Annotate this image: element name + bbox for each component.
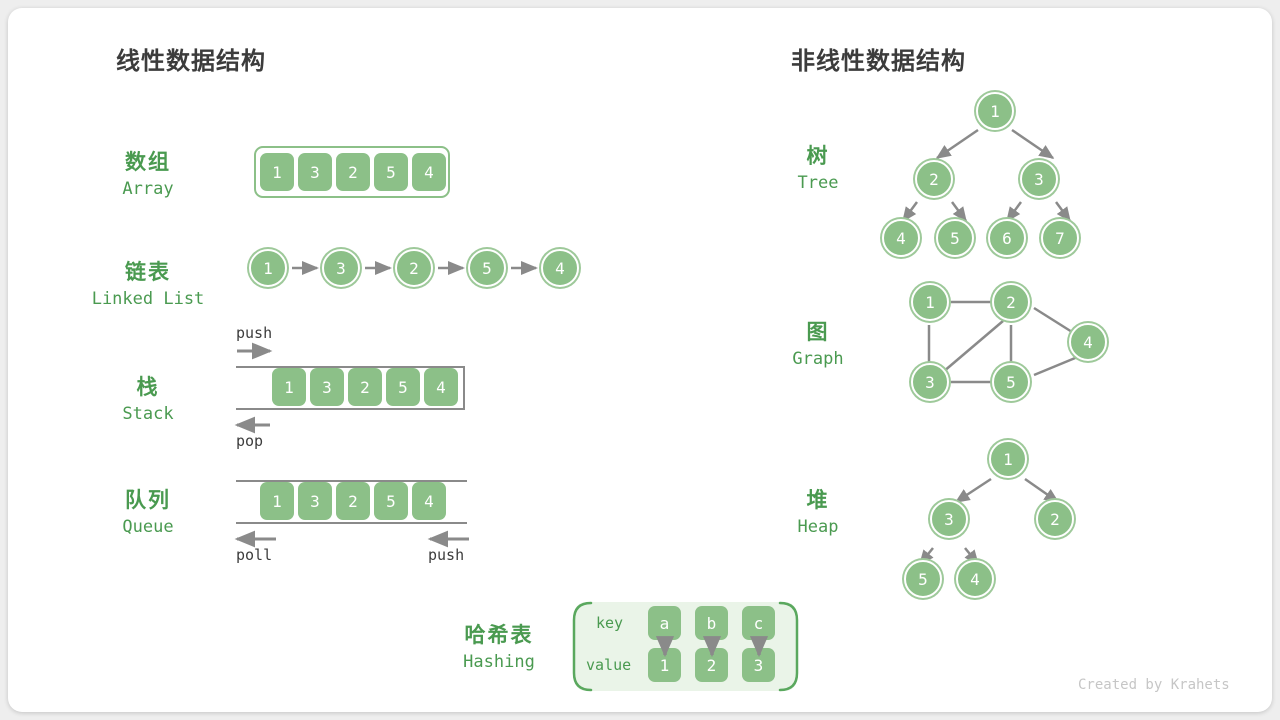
heap-label: 堆 Heap (740, 486, 896, 540)
hashing-label-en: Hashing (421, 649, 577, 675)
stack-label-en: Stack (80, 401, 216, 427)
linked-list-label: 链表 Linked List (70, 258, 226, 312)
heap-label-cn: 堆 (740, 486, 896, 514)
hashing-label: 哈希表 Hashing (421, 621, 577, 675)
stack-cell: 2 (348, 368, 382, 406)
tree-label: 树 Tree (740, 142, 896, 196)
queue-wall-bottom (236, 522, 467, 524)
graph-label-en: Graph (740, 346, 896, 372)
array-cell: 1 (260, 153, 294, 191)
queue-cell: 4 (412, 482, 446, 520)
stack-cell: 1 (272, 368, 306, 406)
hash-value-cell: 2 (695, 648, 728, 682)
stack-cell: 5 (386, 368, 420, 406)
heap-node: 1 (989, 440, 1027, 478)
graph-node: 2 (992, 283, 1030, 321)
tree-node: 2 (915, 160, 953, 198)
array-label: 数组 Array (80, 148, 216, 202)
hash-key-cell: b (695, 606, 728, 640)
hash-value-label: value (586, 656, 631, 674)
stack-wall-right (463, 366, 465, 410)
graph-node: 4 (1069, 323, 1107, 361)
heap-node: 5 (904, 560, 942, 598)
tree-node: 4 (882, 219, 920, 257)
stack-pop-label: pop (236, 432, 263, 450)
heap-node: 3 (930, 500, 968, 538)
queue-cell: 1 (260, 482, 294, 520)
hash-key-cell: a (648, 606, 681, 640)
linked-list-label-cn: 链表 (70, 258, 226, 286)
heap-node: 2 (1036, 500, 1074, 538)
tree-node: 3 (1020, 160, 1058, 198)
diagram-card: 线性数据结构 非线性数据结构 (8, 8, 1272, 712)
tree-label-en: Tree (740, 170, 896, 196)
stack-operation-arrows (237, 351, 270, 425)
graph-node: 3 (911, 363, 949, 401)
tree-node: 5 (936, 219, 974, 257)
queue-poll-label: poll (236, 546, 272, 564)
queue-cell: 5 (374, 482, 408, 520)
tree-label-cn: 树 (740, 142, 896, 170)
queue-push-label: push (428, 546, 464, 564)
tree-node: 6 (988, 219, 1026, 257)
tree-node: 7 (1041, 219, 1079, 257)
queue-label-en: Queue (80, 514, 216, 540)
hash-key-cell: c (742, 606, 775, 640)
credit-text: Created by Krahets (1078, 677, 1230, 693)
hash-value-cell: 3 (742, 648, 775, 682)
tree-node: 1 (976, 92, 1014, 130)
stack-cell: 3 (310, 368, 344, 406)
hashing-label-cn: 哈希表 (421, 621, 577, 649)
array-cell: 5 (374, 153, 408, 191)
right-section-title: 非线性数据结构 (791, 41, 966, 76)
stack-wall-bottom (236, 408, 465, 410)
hash-value-cell: 1 (648, 648, 681, 682)
stack-cell: 4 (424, 368, 458, 406)
queue-cell: 3 (298, 482, 332, 520)
linked-list-node: 1 (249, 249, 287, 287)
graph-label: 图 Graph (740, 318, 896, 372)
graph-label-cn: 图 (740, 318, 896, 346)
array-label-cn: 数组 (80, 148, 216, 176)
array-label-en: Array (80, 176, 216, 202)
array-cell: 4 (412, 153, 446, 191)
hash-key-label: key (596, 614, 623, 632)
linked-list-label-en: Linked List (70, 286, 226, 312)
array-cell: 2 (336, 153, 370, 191)
stack-push-label: push (236, 324, 272, 342)
left-section-title: 线性数据结构 (116, 41, 266, 76)
queue-label: 队列 Queue (80, 486, 216, 540)
stack-label-cn: 栈 (80, 373, 216, 401)
heap-label-en: Heap (740, 514, 896, 540)
linked-list-node: 4 (541, 249, 579, 287)
graph-node: 5 (992, 363, 1030, 401)
linked-list-node: 3 (322, 249, 360, 287)
stack-label: 栈 Stack (80, 373, 216, 427)
linked-list-node: 5 (468, 249, 506, 287)
linked-list-node: 2 (395, 249, 433, 287)
queue-label-cn: 队列 (80, 486, 216, 514)
array-cell: 3 (298, 153, 332, 191)
graph-node: 1 (911, 283, 949, 321)
queue-cell: 2 (336, 482, 370, 520)
heap-node: 4 (956, 560, 994, 598)
